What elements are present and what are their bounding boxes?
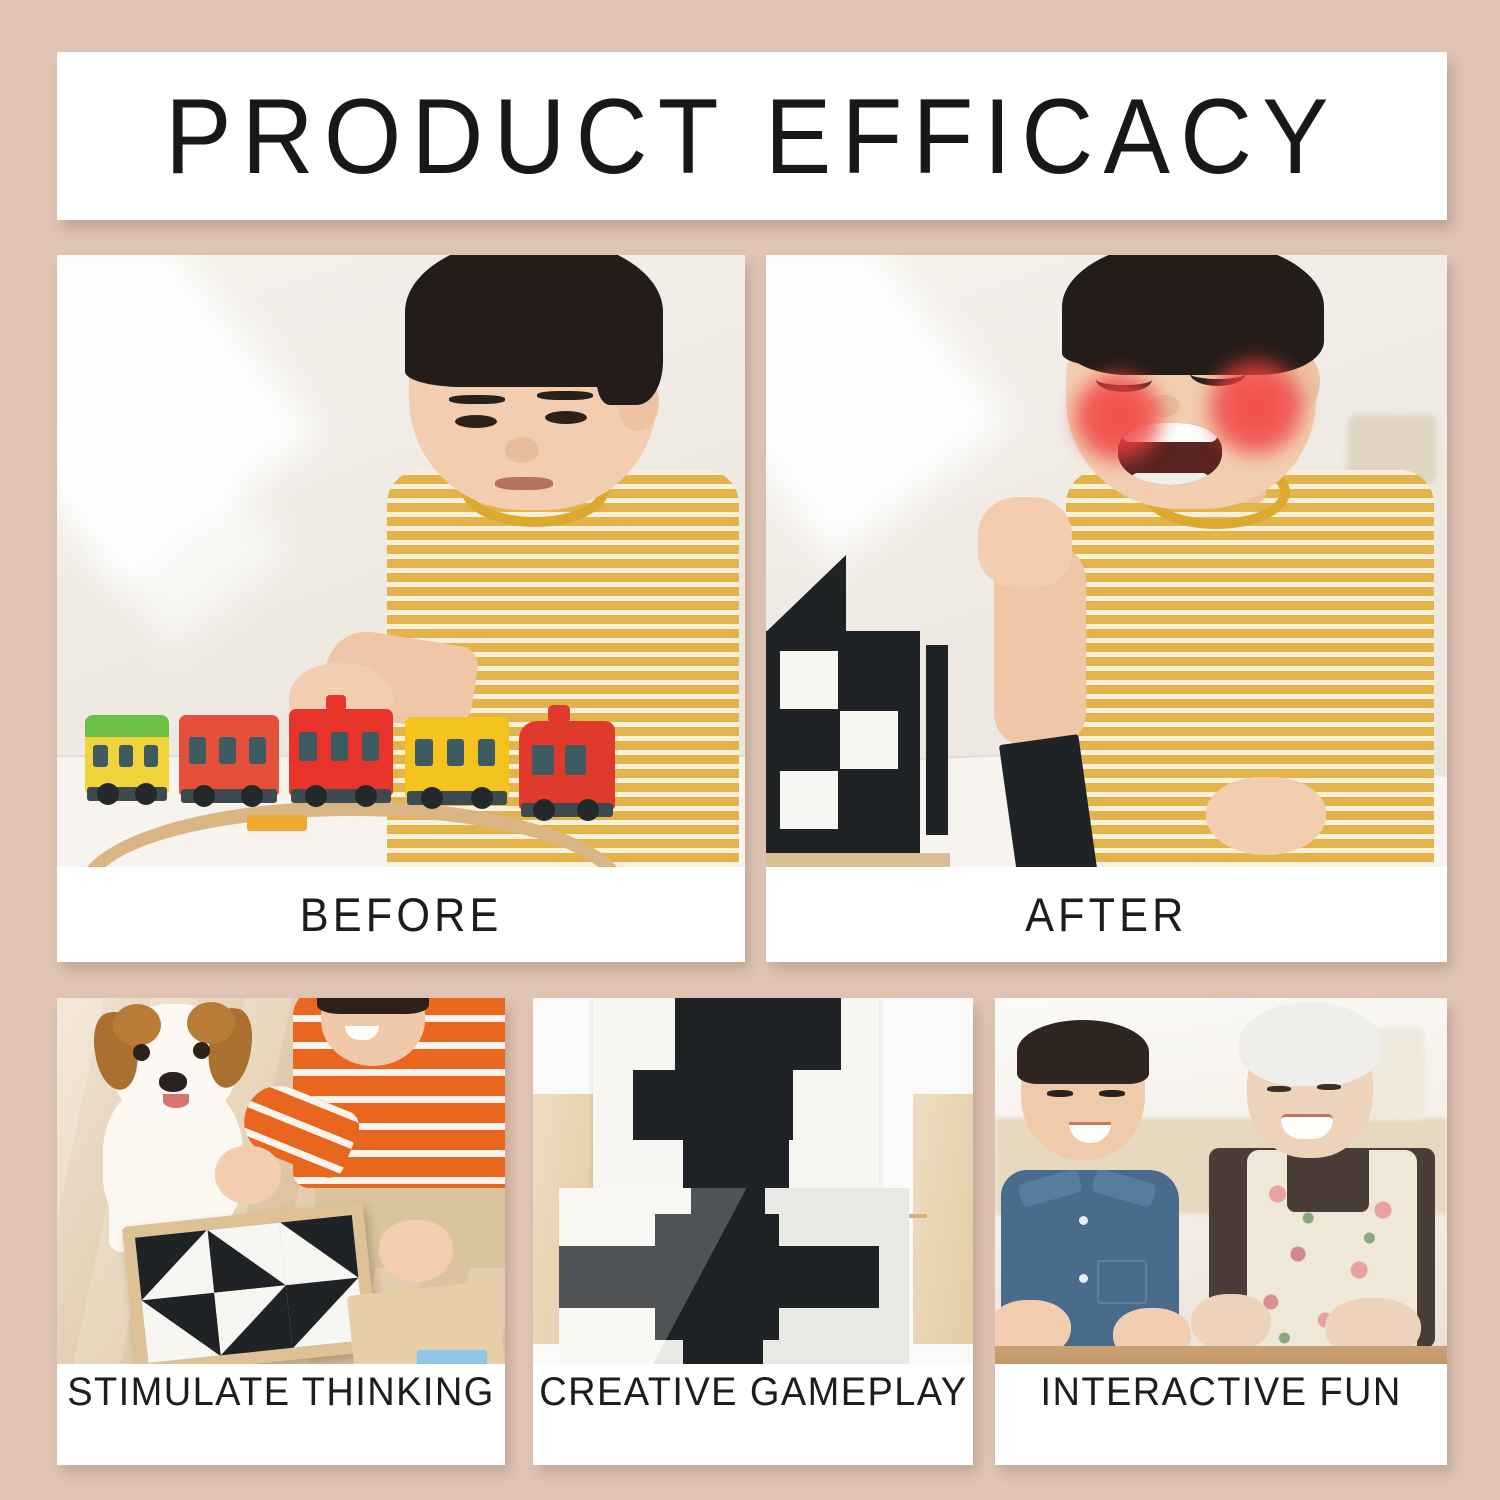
puzzle-tray: [122, 1202, 378, 1370]
stimulate-caption: STIMULATE THINKING: [67, 1370, 495, 1415]
boy-hair-fringe: [405, 341, 573, 387]
denim-collar-left: [1017, 1170, 1083, 1208]
card-shape-5: [723, 1138, 789, 1190]
train-car-1-roof: [85, 715, 169, 737]
boy-brow-right: [537, 391, 593, 400]
grandma-eye-right: [1317, 1084, 1341, 1090]
puzzle-tray-inner: [135, 1215, 365, 1363]
interactive-fun-photo: [995, 998, 1447, 1370]
child-hair: [317, 998, 429, 1014]
before-caption-bar: BEFORE: [57, 867, 745, 962]
creative-gameplay-photo: [533, 998, 973, 1370]
dog-eye-left: [133, 1044, 150, 1061]
benefit-card-stimulate-thinking: STIMULATE THINKING: [57, 998, 505, 1465]
benefit-card-creative-gameplay: CREATIVE GAMEPLAY: [533, 998, 973, 1465]
boy-nose: [505, 437, 539, 463]
train-locomotive: [519, 721, 615, 809]
boy-eye-left: [455, 415, 497, 428]
blush-left: [1066, 365, 1170, 469]
denim-collar-right: [1091, 1170, 1157, 1208]
boy-hair: [1017, 1020, 1149, 1084]
dog-eye-right: [193, 1042, 210, 1059]
boy-resting-hand: [1206, 777, 1326, 855]
boy-brow-left: [449, 395, 505, 404]
card-shape-3: [683, 1140, 723, 1190]
after-photo: [766, 255, 1447, 867]
grandma-eye-left: [1267, 1086, 1291, 1092]
wood-rail-right: [913, 1094, 973, 1344]
train-car-4: [405, 717, 509, 797]
grandma-hand-left: [1191, 1294, 1271, 1352]
train-car-1: [85, 727, 169, 793]
tile-5-triangle: [214, 1285, 292, 1355]
blush-right: [1200, 351, 1312, 463]
train-car-2: [179, 715, 279, 795]
creative-caption: CREATIVE GAMEPLAY: [539, 1370, 967, 1415]
lower-teeth: [1130, 473, 1209, 485]
child-pointing-hand: [215, 1146, 281, 1204]
page-title: PRODUCT EFFICACY: [165, 83, 1339, 190]
interactive-caption: INTERACTIVE FUN: [1040, 1370, 1401, 1415]
stimulate-thinking-photo: [57, 998, 505, 1370]
dog-tongue: [163, 1094, 189, 1108]
boy-hair-side: [597, 295, 663, 405]
before-caption: BEFORE: [300, 887, 503, 942]
boy-fist: [978, 497, 1072, 587]
boy-eye-right: [545, 411, 587, 424]
benefit-card-interactive-fun: INTERACTIVE FUN: [995, 998, 1447, 1465]
dog-head-patch-right: [187, 1002, 235, 1044]
denim-pocket: [1097, 1260, 1147, 1304]
title-banner: PRODUCT EFFICACY: [57, 52, 1447, 220]
after-caption: AFTER: [1025, 887, 1187, 942]
child-resting-hand: [379, 1220, 453, 1282]
apron-neckline: [1287, 1150, 1369, 1212]
card-shape-2: [633, 1070, 793, 1140]
block-shading: [559, 1188, 909, 1370]
block-white-3: [780, 771, 838, 829]
tile-2-triangle: [207, 1223, 285, 1293]
creative-caption-bar: CREATIVE GAMEPLAY: [533, 1364, 973, 1465]
train-car-3: [289, 709, 393, 795]
after-caption-bar: AFTER: [766, 867, 1447, 962]
block-white-2: [840, 711, 898, 769]
block-tower-edge: [926, 645, 948, 835]
card-shape-4: [761, 998, 841, 1070]
dog-head-patch-left: [113, 1004, 161, 1046]
track-connector: [247, 815, 307, 831]
tile-3-triangle: [280, 1215, 358, 1285]
stimulate-caption-bar: STIMULATE THINKING: [57, 1364, 505, 1465]
interactive-caption-bar: INTERACTIVE FUN: [995, 1364, 1447, 1465]
product-efficacy-infographic: PRODUCT EFFICACY: [0, 0, 1500, 1500]
after-card: AFTER: [766, 255, 1447, 962]
boy-eye-right: [1099, 1090, 1125, 1097]
block-tray-base: [766, 853, 950, 867]
dog-nose: [159, 1072, 187, 1092]
boy-mouth: [495, 477, 553, 490]
boy-eye-left: [1047, 1090, 1073, 1097]
before-photo: [57, 255, 745, 867]
before-card: BEFORE: [57, 255, 745, 962]
tile-1-triangle: [135, 1230, 213, 1300]
grandma-hair: [1239, 1002, 1381, 1086]
tile-4-triangle: [142, 1293, 220, 1363]
block-white-1: [780, 651, 838, 709]
